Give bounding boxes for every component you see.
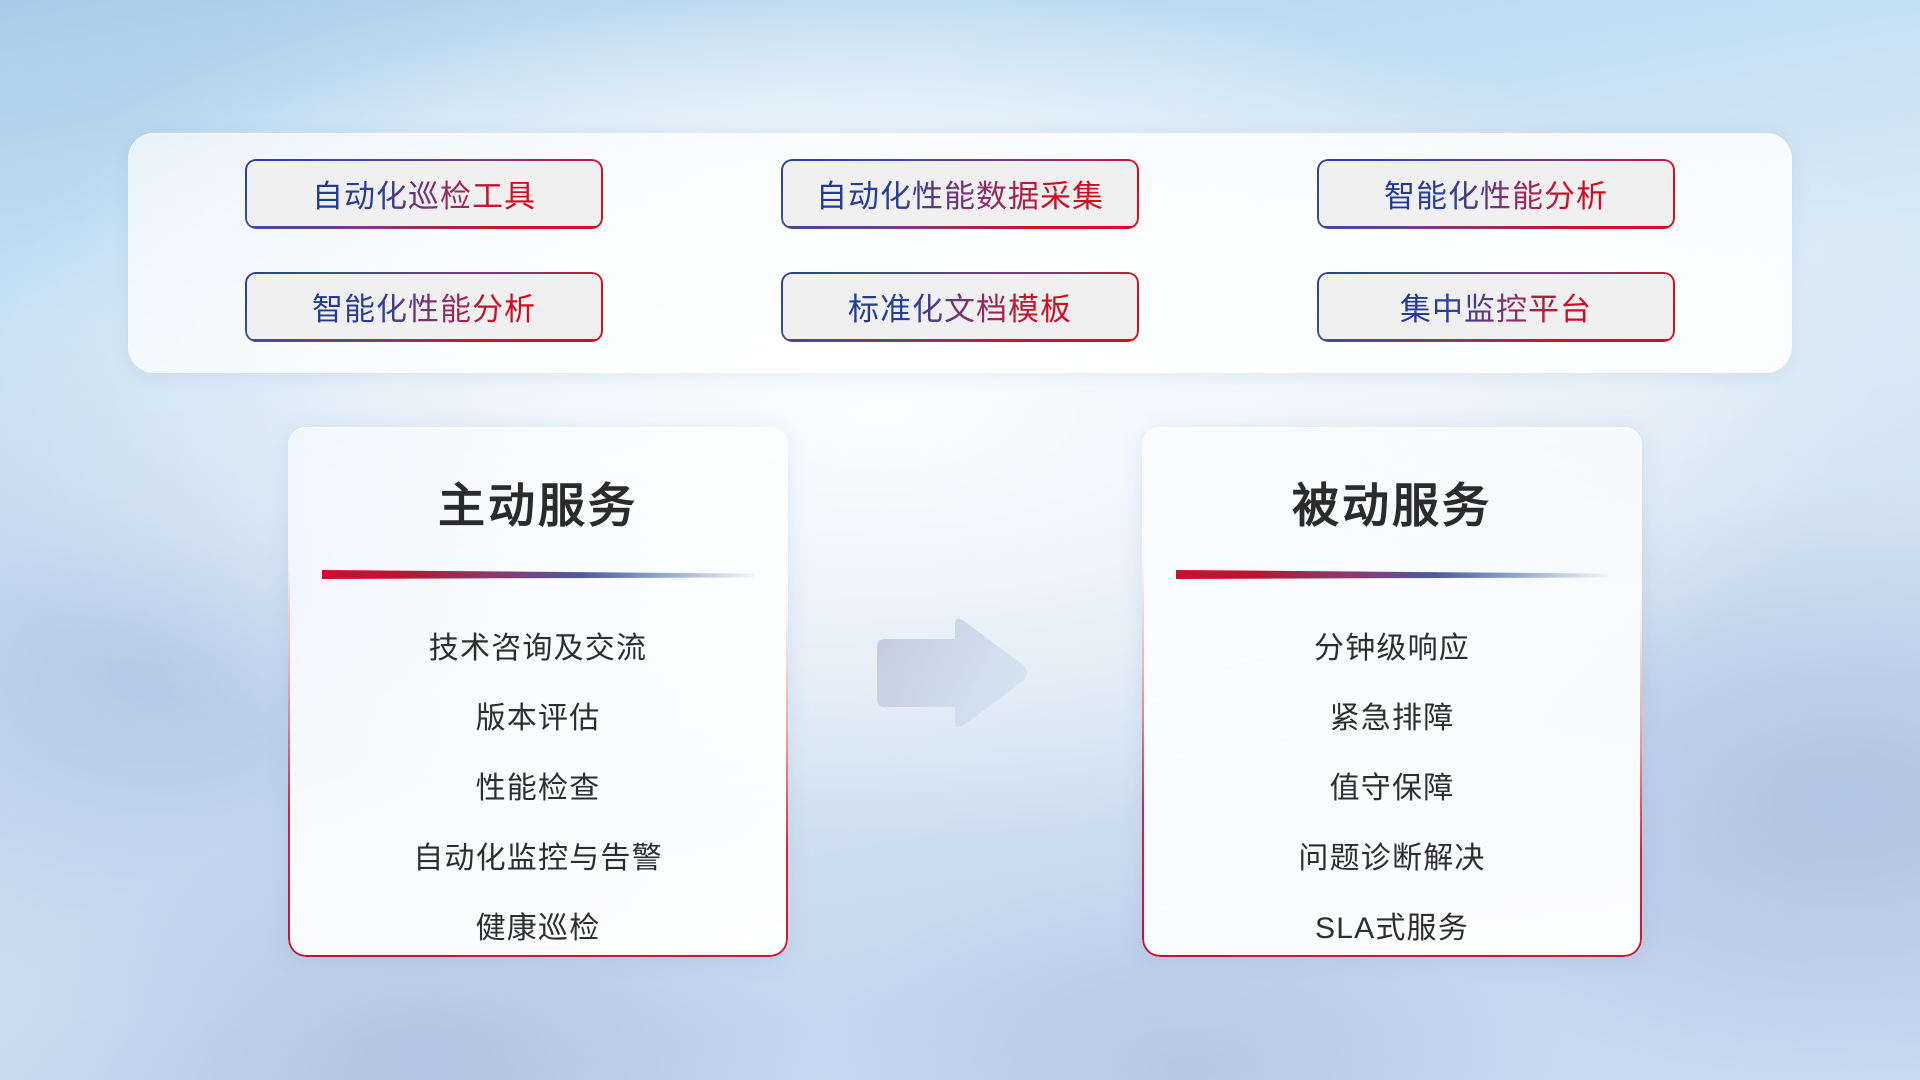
service-card-title: 被动服务 (1142, 467, 1642, 536)
service-list-item: 值守保障 (1330, 763, 1455, 807)
capability-chip[interactable]: 自动化性能数据采集 (781, 159, 1139, 229)
arrow-right-icon (871, 613, 1031, 733)
service-list-item: SLA式服务 (1315, 903, 1469, 947)
service-list-item: 版本评估 (476, 693, 601, 737)
service-list-item: 技术咨询及交流 (429, 623, 647, 667)
service-card-active: 主动服务 技术咨询及交流 版本评估 性能检查 自动化监控与告警 健康巡检 (288, 427, 788, 957)
capability-panel: 自动化巡检工具 自动化性能数据采集 智能化性能分析 智能化性能分析 标准化文档模… (128, 133, 1792, 373)
capability-chip-label: 标准化文档模板 (848, 284, 1072, 329)
service-card-passive: 被动服务 分钟级响应 紧急排障 值守保障 问题诊断解决 SLA式服务 (1142, 427, 1642, 957)
capability-chip[interactable]: 智能化性能分析 (1317, 159, 1675, 229)
capability-chip-label: 智能化性能分析 (312, 284, 536, 329)
service-card-title: 主动服务 (288, 467, 788, 536)
capability-chip-label: 自动化巡检工具 (312, 171, 536, 216)
service-list-item: 分钟级响应 (1314, 623, 1470, 667)
service-list-item: 自动化监控与告警 (413, 833, 663, 877)
title-divider (322, 570, 754, 579)
service-list-item: 性能检查 (476, 763, 601, 807)
service-list-item: 健康巡检 (476, 903, 601, 947)
service-list-item: 紧急排障 (1330, 693, 1455, 737)
capability-chip[interactable]: 集中监控平台 (1317, 272, 1675, 342)
capability-chip-label: 集中监控平台 (1400, 284, 1592, 329)
title-divider (1176, 570, 1608, 579)
capability-chip-label: 智能化性能分析 (1384, 171, 1608, 216)
service-item-list: 技术咨询及交流 版本评估 性能检查 自动化监控与告警 健康巡检 (288, 623, 788, 947)
service-item-list: 分钟级响应 紧急排障 值守保障 问题诊断解决 SLA式服务 (1142, 623, 1642, 947)
capability-chip-label: 自动化性能数据采集 (816, 171, 1104, 216)
service-list-item: 问题诊断解决 (1298, 833, 1485, 877)
capability-chip[interactable]: 标准化文档模板 (781, 272, 1139, 342)
capability-chip[interactable]: 自动化巡检工具 (245, 159, 603, 229)
capability-chip[interactable]: 智能化性能分析 (245, 272, 603, 342)
